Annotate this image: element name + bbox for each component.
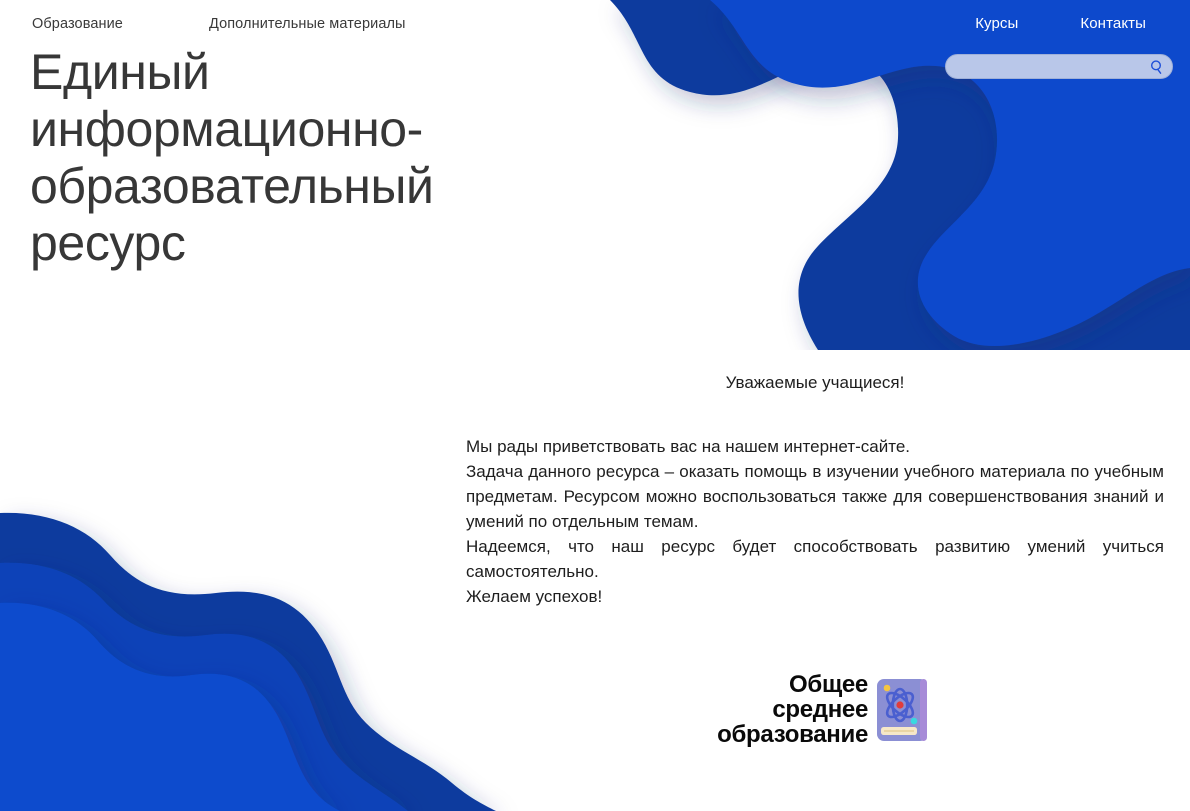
search-icon[interactable]	[1149, 59, 1165, 75]
search-bar	[945, 54, 1173, 79]
search-input[interactable]	[945, 54, 1173, 79]
logo-line-1: Общее	[717, 672, 868, 697]
logo-line-2: среднее	[717, 697, 868, 722]
nav-item-obrazovanie[interactable]: Образование	[32, 16, 123, 32]
logo[interactable]: Общее среднее образование	[666, 672, 928, 747]
nav-group-left: Образование Дополнительные материалы	[32, 16, 406, 32]
paragraph-2: Задача данного ресурса – оказать помощь …	[466, 459, 1164, 534]
welcome-text-block: Мы рады приветствовать вас на нашем инте…	[466, 434, 1164, 609]
nav-item-kursy[interactable]: Курсы	[975, 15, 1018, 32]
paragraph-4: Желаем успехов!	[466, 584, 1164, 609]
top-navigation: Образование Дополнительные материалы Кур…	[0, 0, 1190, 46]
page-root: Образование Дополнительные материалы Кур…	[0, 0, 1190, 811]
page-title: Единый информационно-образовательный рес…	[30, 44, 590, 272]
logo-line-3: образование	[717, 722, 868, 747]
nav-group-right: Курсы Контакты	[975, 15, 1146, 32]
book-atom-icon	[876, 678, 928, 742]
main-content: Уважаемые учащиеся! Мы рады приветствова…	[466, 370, 1164, 609]
paragraph-1: Мы рады приветствовать вас на нашем инте…	[466, 434, 1164, 459]
greeting-text: Уважаемые учащиеся!	[466, 370, 1164, 395]
nav-item-kontakty[interactable]: Контакты	[1080, 15, 1146, 32]
wave-decoration-top-right	[550, 0, 1190, 350]
paragraph-3: Надеемся, что наш ресурс будет способств…	[466, 534, 1164, 584]
logo-text: Общее среднее образование	[717, 672, 868, 747]
nav-item-dopolnitelnye-materialy[interactable]: Дополнительные материалы	[209, 16, 406, 32]
